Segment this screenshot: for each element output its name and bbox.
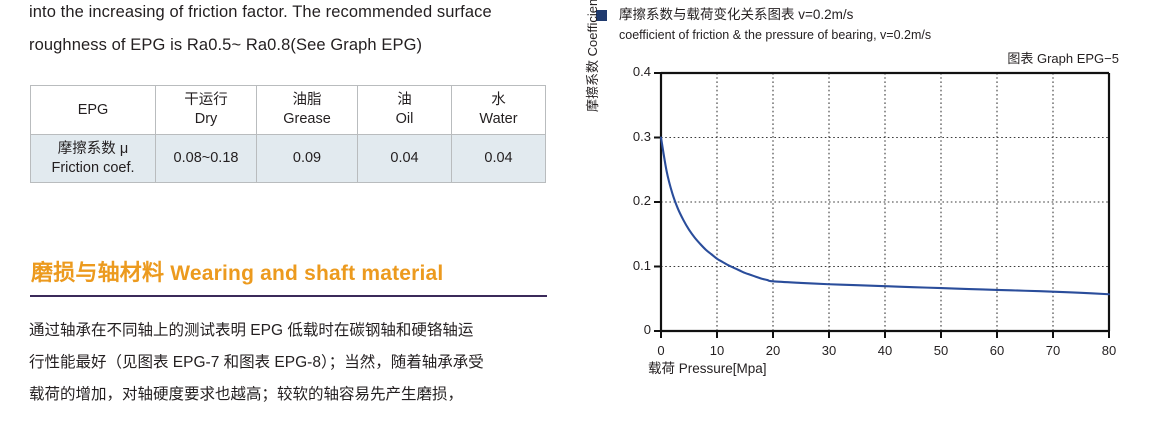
x-axis-title: 载荷 Pressure[Mpa] bbox=[648, 357, 767, 377]
cell-dry-value: 0.08~0.18 bbox=[156, 135, 257, 183]
header-oil-en: Oil bbox=[358, 110, 451, 129]
cell-grease-value: 0.09 bbox=[257, 135, 358, 183]
y-axis-title: 摩擦系数 Coefficient of friction i bbox=[582, 0, 601, 112]
section-heading-en: Wearing and shaft material bbox=[170, 262, 443, 285]
x-tick-label: 80 bbox=[1089, 343, 1129, 358]
y-tick-label: 0.4 bbox=[609, 64, 651, 79]
section-divider bbox=[30, 295, 547, 297]
section-heading-cn: 磨损与轴材料 bbox=[31, 260, 164, 285]
table-header-cell-grease: 油脂 Grease bbox=[257, 86, 358, 135]
header-dry-en: Dry bbox=[156, 110, 256, 129]
table-header-cell-epg: EPG bbox=[31, 86, 156, 135]
cell-water-value: 0.04 bbox=[452, 135, 546, 183]
x-tick-label: 50 bbox=[921, 343, 961, 358]
header-dry-cn: 干运行 bbox=[156, 91, 256, 110]
table-header-cell-oil: 油 Oil bbox=[358, 86, 452, 135]
y-tick-label: 0.1 bbox=[609, 258, 651, 273]
document-left-column: into the increasing of friction factor. … bbox=[0, 0, 580, 421]
y-tick-label: 0.2 bbox=[609, 193, 651, 208]
x-tick-label: 70 bbox=[1033, 343, 1073, 358]
intro-paragraph: into the increasing of friction factor. … bbox=[29, 0, 554, 62]
x-tick-label: 60 bbox=[977, 343, 1017, 358]
row-label-en: Friction coef. bbox=[31, 159, 155, 178]
y-tick-label: 0 bbox=[609, 322, 651, 337]
friction-coefficient-table: EPG 干运行 Dry 油脂 Grease 油 Oil 水 Water bbox=[30, 85, 546, 183]
table-header-cell-dry: 干运行 Dry bbox=[156, 86, 257, 135]
header-water-en: Water bbox=[452, 110, 545, 129]
x-tick-label: 40 bbox=[865, 343, 905, 358]
table-row: 摩擦系数 μ Friction coef. 0.08~0.18 0.09 0.0… bbox=[31, 135, 546, 183]
row-label-friction-coef: 摩擦系数 μ Friction coef. bbox=[31, 135, 156, 183]
body-line-2: 行性能最好（见图表 EPG-7 和图表 EPG-8）；当然，随着轴承承受 bbox=[29, 347, 559, 379]
body-paragraph: 通过轴承在不同轴上的测试表明 EPG 低载时在碳钢轴和硬铬轴运 行性能最好（见图… bbox=[29, 315, 559, 411]
chart-panel: 摩擦系数与载荷变化关系图表 v=0.2m/s coefficient of fr… bbox=[580, 0, 1160, 421]
header-oil-cn: 油 bbox=[358, 91, 451, 110]
intro-line-2: roughness of EPG is Ra0.5~ Ra0.8(See Gra… bbox=[29, 29, 554, 62]
x-tick-label: 30 bbox=[809, 343, 849, 358]
x-tick-label: 0 bbox=[641, 343, 681, 358]
y-tick-label: 0.3 bbox=[609, 129, 651, 144]
table-header-cell-water: 水 Water bbox=[452, 86, 546, 135]
header-grease-cn: 油脂 bbox=[257, 91, 357, 110]
cell-oil-value: 0.04 bbox=[358, 135, 452, 183]
plot-area: 摩擦系数 Coefficient of friction i 载荷 Pressu… bbox=[580, 0, 1160, 421]
body-line-3: 载荷的增加，对轴硬度要求也越高；较软的轴容易先产生磨损， bbox=[29, 379, 559, 411]
header-grease-en: Grease bbox=[257, 110, 357, 129]
intro-line-1: into the increasing of friction factor. … bbox=[29, 0, 554, 29]
table-header-row: EPG 干运行 Dry 油脂 Grease 油 Oil 水 Water bbox=[31, 86, 546, 135]
x-tick-label: 10 bbox=[697, 343, 737, 358]
axis-ticks bbox=[654, 73, 1109, 338]
header-epg-cn: EPG bbox=[31, 101, 155, 120]
row-label-cn: 摩擦系数 μ bbox=[31, 140, 155, 159]
section-heading: 磨损与轴材料 Wearing and shaft material bbox=[31, 255, 443, 287]
x-tick-label: 20 bbox=[753, 343, 793, 358]
body-line-1: 通过轴承在不同轴上的测试表明 EPG 低载时在碳钢轴和硬铬轴运 bbox=[29, 315, 559, 347]
header-water-cn: 水 bbox=[452, 91, 545, 110]
